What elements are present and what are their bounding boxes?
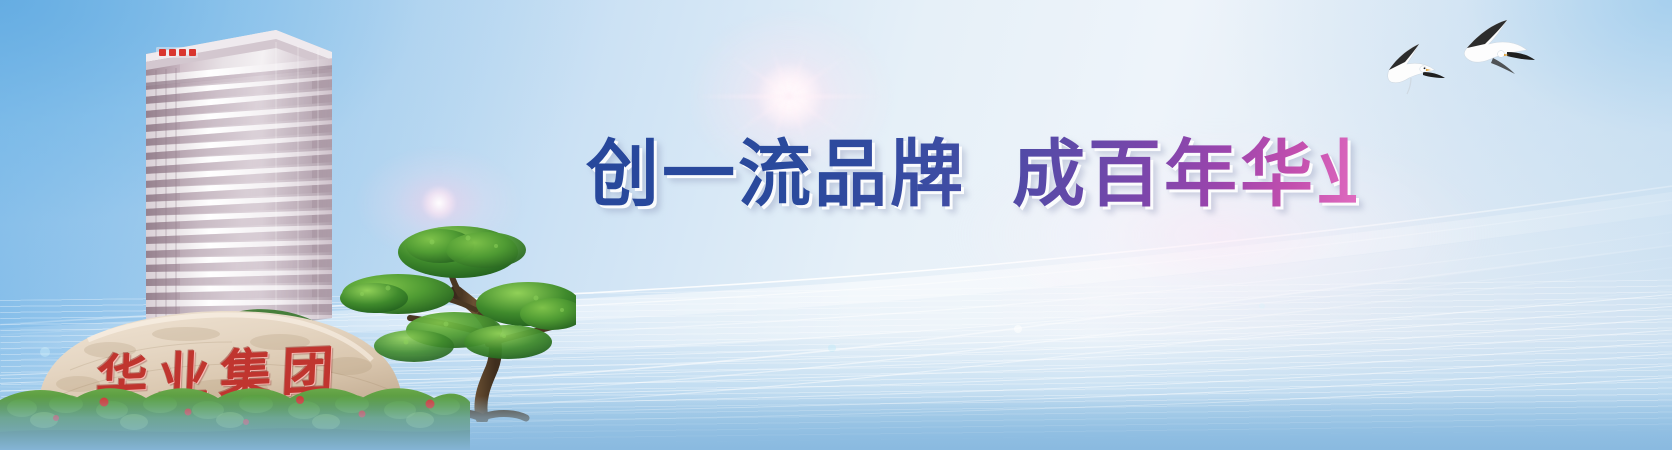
seagull-group [1375,10,1560,115]
slogan-wrap: 创一流品牌成百年华业 [586,129,1356,221]
seagull-icon [1464,20,1535,74]
seagull-icon [1388,44,1445,94]
slogan-part-2: 成百年华业 [1012,132,1392,217]
page-title: 创一流品牌成百年华业 [586,129,1356,221]
office-tower-illustration [126,18,358,348]
building-sign [156,47,198,58]
sun-ray-burst [789,95,791,97]
water-band [0,396,1672,450]
slogan-part-1: 创一流品牌 [586,132,966,217]
hero-banner: 华业集团 [0,0,1672,450]
